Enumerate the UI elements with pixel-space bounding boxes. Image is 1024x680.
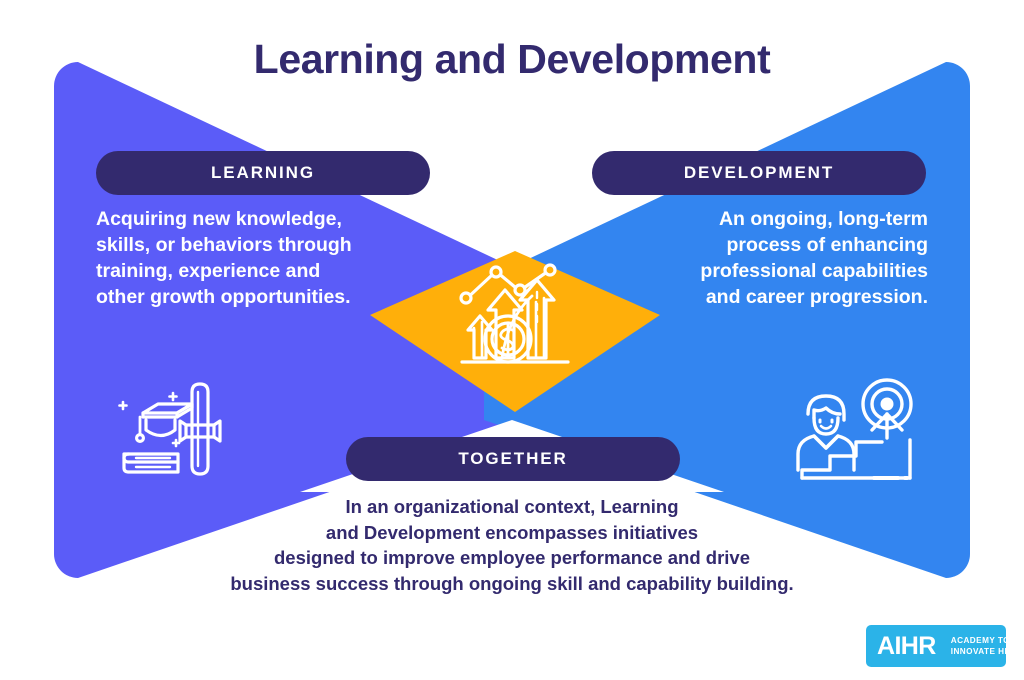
together-line: In an organizational context, Learning [102,494,922,520]
badge-learning-label: LEARNING [211,163,315,183]
badge-learning: LEARNING [96,151,430,195]
logo-tagline-line2: INNOVATE HR [951,647,1011,656]
together-line: and Development encompasses initiatives [102,520,922,546]
badge-together: TOGETHER [346,437,680,481]
page-title: Learning and Development [0,36,1024,83]
infographic-canvas: Learning and Development LEARNING Acquir… [0,0,1024,680]
together-description: In an organizational context, Learning a… [102,494,922,596]
together-line: business success through ongoing skill a… [102,571,922,597]
development-description: An ongoing, long-term process of enhanci… [666,206,928,310]
logo-tagline-line1: ACADEMY TO [951,636,1010,645]
graduation-cap-diploma-books-icon [96,368,248,480]
aihr-logo: AIHR ACADEMY TO INNOVATE HR [866,625,1006,667]
logo-tagline: ACADEMY TO INNOVATE HR [951,635,1011,657]
badge-development: DEVELOPMENT [592,151,926,195]
learning-description: Acquiring new knowledge, skills, or beha… [96,206,358,310]
logo-wordmark: AIHR [866,632,936,661]
growth-chart-dollar-arrows-icon [458,262,572,370]
person-stairs-target-icon [786,378,928,488]
badge-together-label: TOGETHER [458,449,567,469]
together-line: designed to improve employee performance… [102,545,922,571]
badge-development-label: DEVELOPMENT [684,163,834,183]
